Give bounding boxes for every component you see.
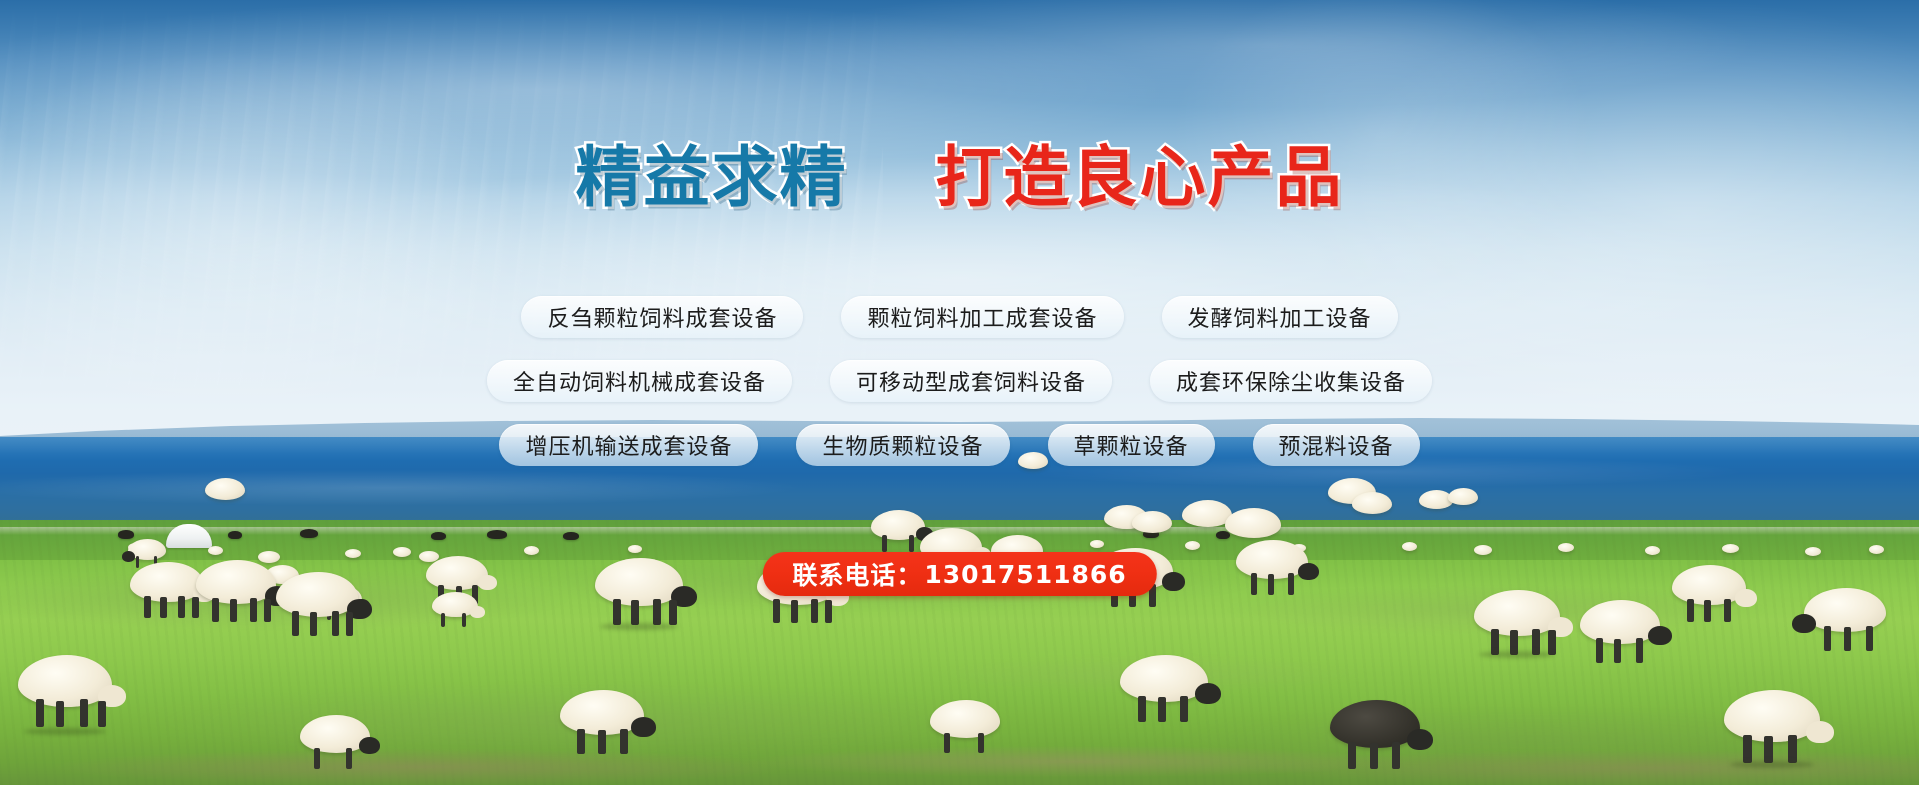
sheep <box>628 545 642 553</box>
sheep <box>1132 511 1172 533</box>
sheep <box>300 715 370 753</box>
sheep <box>1724 690 1820 742</box>
sheep <box>208 546 223 555</box>
category-pill[interactable]: 颗粒饲料加工成套设备 <box>841 296 1123 338</box>
yak <box>228 531 242 539</box>
category-pill[interactable]: 生物质颗粒设备 <box>796 424 1009 466</box>
sheep <box>18 655 112 707</box>
category-pill[interactable]: 全自动饲料机械成套设备 <box>487 360 792 402</box>
sheep <box>345 549 361 558</box>
sheep <box>1402 542 1417 551</box>
sheep <box>930 700 1000 738</box>
sheep <box>426 556 488 590</box>
sheep <box>1474 545 1492 555</box>
sheep <box>1804 588 1886 632</box>
category-pill[interactable]: 增压机输送成套设备 <box>499 424 758 466</box>
sheep <box>1352 492 1392 514</box>
sheep <box>432 592 478 617</box>
yak <box>431 532 446 540</box>
sheep <box>1645 546 1660 555</box>
category-pill[interactable]: 草颗粒设备 <box>1048 424 1215 466</box>
sheep <box>1225 508 1281 538</box>
sheep <box>1580 600 1660 644</box>
sheep <box>196 560 276 604</box>
category-pill[interactable]: 成套环保除尘收集设备 <box>1150 360 1432 402</box>
sheep <box>1672 565 1746 605</box>
category-pill[interactable]: 反刍颗粒饲料成套设备 <box>521 296 803 338</box>
contact-phone-badge[interactable]: 联系电话： 13017511866 <box>762 552 1156 596</box>
contact-label: 联系电话： <box>792 556 922 592</box>
category-pill[interactable]: 预混料设备 <box>1253 424 1420 466</box>
sheep <box>560 690 644 735</box>
sheep <box>595 558 683 606</box>
headline-secondary: 打造良心产品 <box>935 142 1343 214</box>
sheep <box>1805 547 1821 556</box>
sheep <box>1330 700 1420 748</box>
category-row-3: 增压机输送成套设备 生物质颗粒设备 草颗粒设备 预混料设备 <box>0 424 1919 466</box>
headline: 精益求精 打造良心产品 <box>0 138 1919 214</box>
sheep <box>1722 544 1739 553</box>
category-pill[interactable]: 可移动型成套饲料设备 <box>830 360 1112 402</box>
yak <box>118 530 134 539</box>
sheep <box>128 539 166 560</box>
yak <box>487 530 507 539</box>
contact-phone-number: 13017511866 <box>924 560 1126 589</box>
sheep <box>276 572 358 617</box>
sheep <box>1869 545 1884 554</box>
category-row-2: 全自动饲料机械成套设备 可移动型成套饲料设备 成套环保除尘收集设备 <box>0 360 1919 402</box>
sheep <box>1185 541 1200 550</box>
yak <box>300 529 318 538</box>
dirt-path <box>0 740 1919 785</box>
sheep <box>130 562 204 602</box>
sheep <box>1120 655 1208 702</box>
category-row-1: 反刍颗粒饲料成套设备 颗粒饲料加工成套设备 发酵饲料加工设备 <box>0 296 1919 338</box>
sheep <box>1474 590 1560 636</box>
yak <box>563 532 579 540</box>
sheep <box>524 546 539 555</box>
sheep <box>1448 488 1478 505</box>
headline-primary: 精益求精 <box>576 142 848 214</box>
sheep <box>1236 540 1308 579</box>
sheep <box>1090 540 1104 548</box>
sheep <box>871 510 925 540</box>
sheep <box>1558 543 1574 552</box>
sheep <box>393 547 411 557</box>
promo-banner: 精益求精 打造良心产品 反刍颗粒饲料成套设备 颗粒饲料加工成套设备 发酵饲料加工… <box>0 0 1919 785</box>
category-pill-rows: 反刍颗粒饲料成套设备 颗粒饲料加工成套设备 发酵饲料加工设备 全自动饲料机械成套… <box>0 296 1919 488</box>
category-pill[interactable]: 发酵饲料加工设备 <box>1162 296 1398 338</box>
